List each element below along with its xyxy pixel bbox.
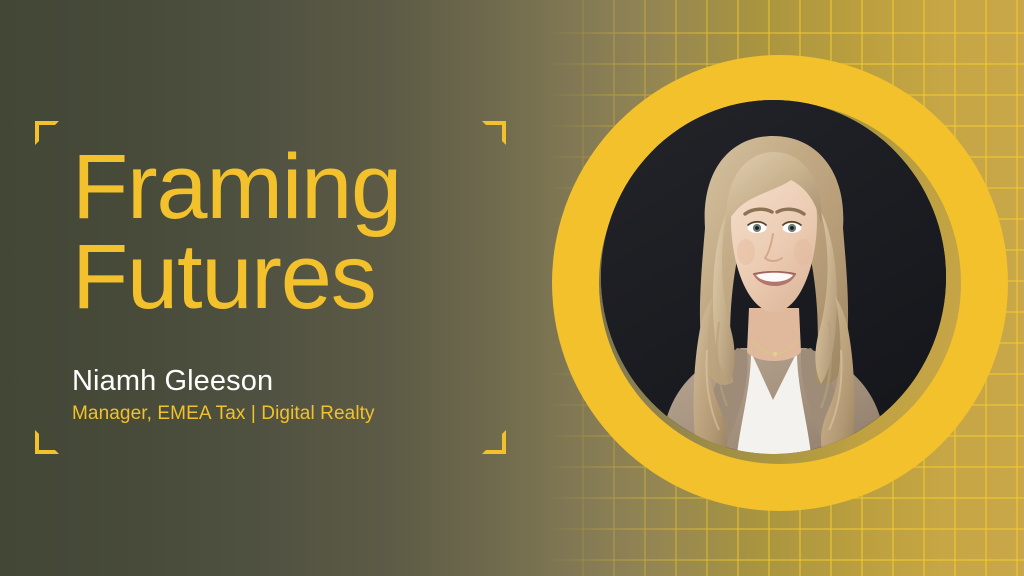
title-slide: Framing Futures Niamh Gleeson Manager, E…	[0, 0, 1024, 576]
text-block: Framing Futures Niamh Gleeson Manager, E…	[72, 142, 512, 425]
speaker-role: Manager, EMEA Tax | Digital Realty	[72, 398, 512, 425]
avatar	[601, 100, 946, 454]
speaker-name: Niamh Gleeson	[72, 322, 512, 398]
page-title: Framing Futures	[72, 142, 512, 322]
portrait-composition	[540, 30, 1024, 546]
